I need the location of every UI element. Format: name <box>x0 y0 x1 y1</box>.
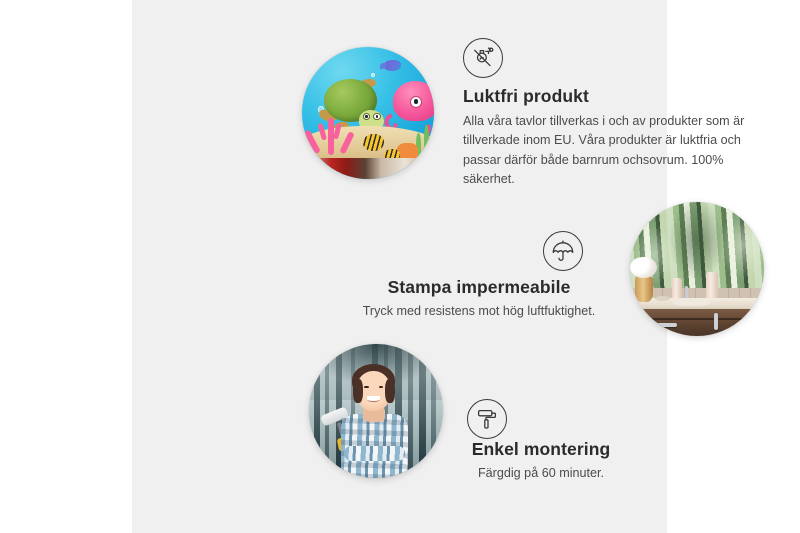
feature-title: Enkel montering <box>421 439 661 460</box>
bubble-icon <box>371 73 375 77</box>
gold-vase-icon <box>635 276 652 303</box>
soap-bottle-icon <box>706 272 718 301</box>
feature-title: Luktfri produkt <box>463 86 763 107</box>
drawer-handle-icon <box>647 323 678 327</box>
coral-icon <box>311 116 351 156</box>
woman-smile <box>367 396 380 401</box>
cabinet-handle-icon <box>714 313 718 329</box>
woman-hair-side <box>385 379 394 403</box>
turtle-eye-icon <box>373 113 380 120</box>
white-flowers-icon <box>630 257 657 278</box>
feature-block-waterproof: Stampa impermeabile Tryck med resistens … <box>344 231 614 321</box>
aquarium-bottom-strip <box>302 158 434 179</box>
feature-title: Stampa impermeabile <box>344 277 614 298</box>
paint-roller-icon <box>467 399 507 439</box>
underwater-cartoon-aquarium-photo[interactable] <box>302 47 434 179</box>
sink-basin <box>673 300 711 305</box>
drawer-divider <box>630 318 764 320</box>
feature-body: Färgdig på 60 minuter. <box>421 464 661 483</box>
umbrella-icon <box>543 231 583 271</box>
woman-crossed-arms <box>344 446 406 461</box>
feature-block-odourless: Luktfri produkt Alla våra tavlor tillver… <box>463 38 763 190</box>
icon-row <box>344 231 614 271</box>
screenshot-stage: Luktfri produkt Alla våra tavlor tillver… <box>0 0 800 533</box>
seaweed-icon <box>424 125 429 157</box>
icon-row <box>421 399 661 439</box>
woman-eye <box>364 386 369 389</box>
feature-body: Tryck med resistens mot hög luftfuktighe… <box>344 302 614 321</box>
content-panel: Luktfri produkt Alla våra tavlor tillver… <box>132 0 667 533</box>
feature-body: Alla våra tavlor tillverkas i och av pro… <box>463 112 763 190</box>
purple-fish-icon <box>384 60 401 71</box>
bathroom-artwork <box>630 202 764 336</box>
icon-spacer <box>375 231 543 271</box>
wood-vanity-cabinet <box>630 309 764 336</box>
aquarium-artwork <box>302 47 434 179</box>
no-odour-perfume-bottle-icon <box>463 38 503 78</box>
feature-block-assembly: Enkel montering Färgdig på 60 minuter. <box>421 399 661 483</box>
starfish-icon <box>397 143 418 159</box>
bathroom-tropical-wallpaper-photo[interactable] <box>630 202 764 336</box>
octopus-eye-icon <box>410 96 422 108</box>
woman-hair-side <box>353 379 362 403</box>
